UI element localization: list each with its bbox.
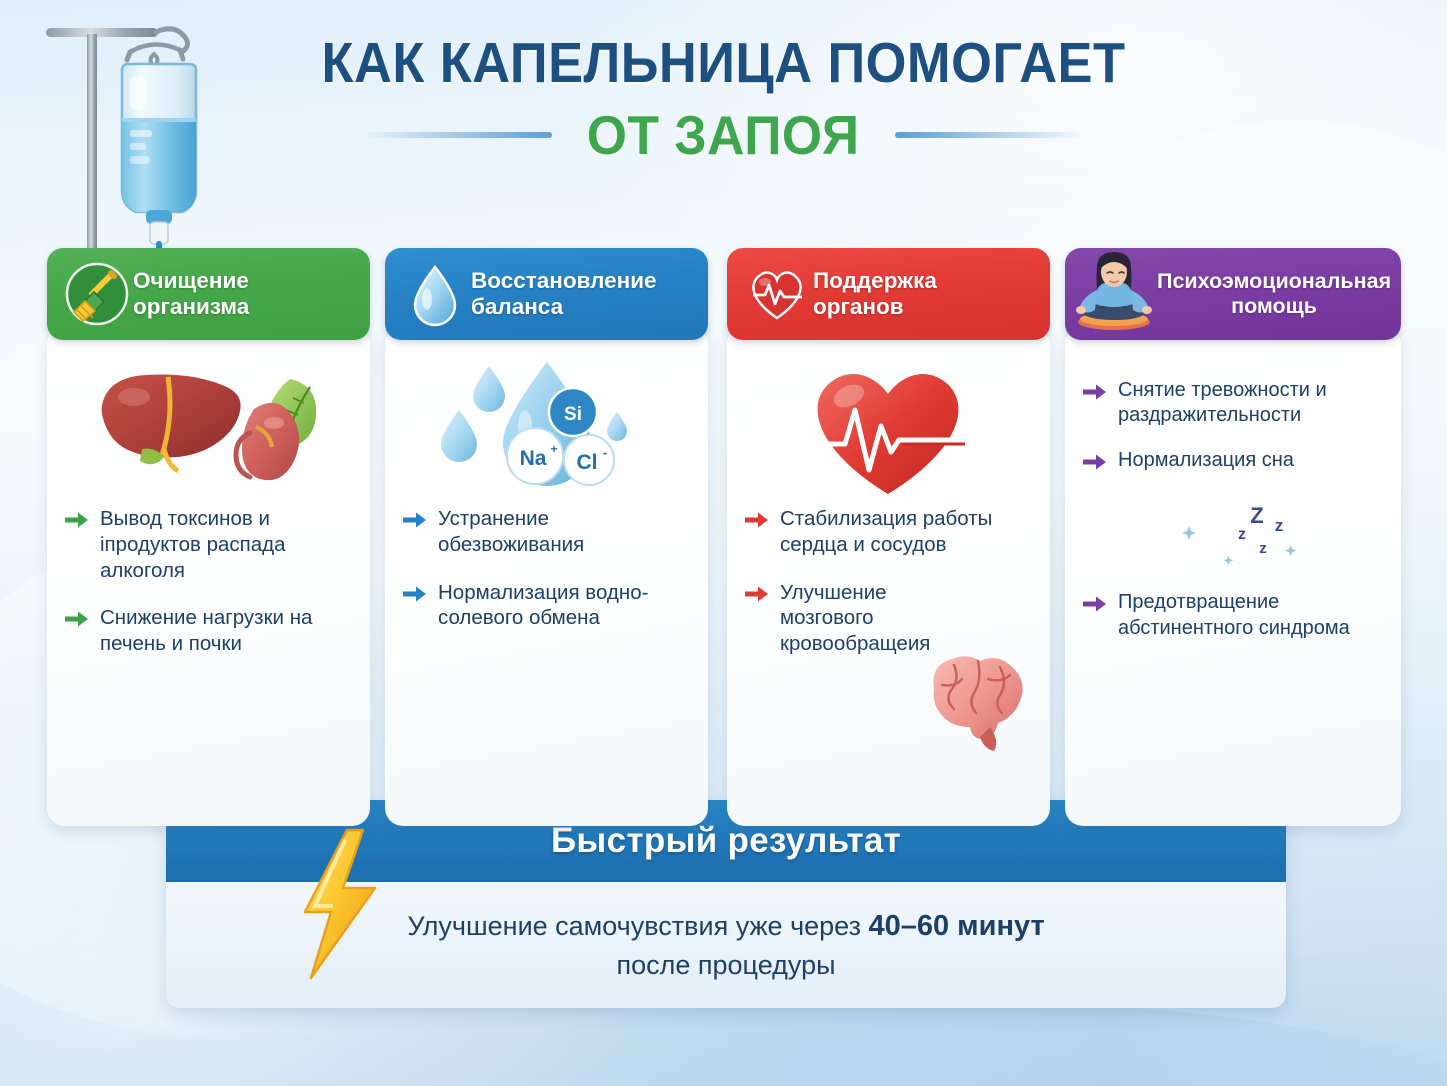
page-title: КАК КАПЕЛЬНИЦА ПОМОГАЕТ ОТ ЗАПОЯ	[0, 34, 1447, 167]
card-header-line2: помощь	[1231, 294, 1317, 318]
banner-duration-highlight: 40–60 минут	[868, 910, 1044, 942]
heart-pulse-icon	[741, 258, 813, 330]
arrow-right-icon	[1083, 595, 1107, 618]
bullet-item: Нормализация сна	[1083, 448, 1385, 476]
card-header-line1: Очищение	[133, 268, 249, 293]
bullet-text: Улучшение мозгового кровообращеия	[780, 580, 930, 657]
electrolyte-drops-illustration: Si Na + Cl -	[399, 352, 692, 502]
svg-text:Cl: Cl	[576, 451, 597, 474]
card-header-title: Психоэмоциональная помощь	[1157, 269, 1401, 319]
infographic-canvas: КАК КАПЕЛЬНИЦА ПОМОГАЕТ ОТ ЗАПОЯ	[0, 0, 1447, 1086]
svg-text:Si: Si	[564, 404, 582, 425]
title-sub-row: ОТ ЗАПОЯ	[0, 103, 1447, 167]
svg-text:z: z	[1259, 540, 1267, 557]
arrow-right-icon	[1083, 383, 1107, 406]
arrow-right-icon	[65, 610, 89, 633]
bullet-text: Нормализация водно-солевого обмена	[438, 580, 692, 632]
card-header-line2: баланса	[471, 294, 563, 319]
broom-icon	[61, 258, 133, 330]
bullet-item: Нормализация водно-солевого обмена	[403, 580, 692, 632]
arrow-right-icon	[403, 511, 427, 534]
brain-illustration	[912, 641, 1044, 758]
card-header-organs: Поддержка органов	[727, 248, 1050, 340]
arrow-right-icon	[1083, 453, 1107, 476]
card-header-title: Восстановление баланса	[471, 268, 694, 321]
card-psycho[interactable]: Психоэмоциональная помощь Снятие тревожн…	[1065, 248, 1401, 826]
card-header-line1: Психоэмоциональная	[1157, 269, 1391, 293]
bullet-list-cleansing: Вывод токсинов и іпродуктов распада алко…	[61, 506, 354, 657]
arrow-right-icon	[745, 585, 769, 608]
heart-ecg-illustration	[741, 352, 1034, 502]
card-body-balance: Si Na + Cl - Устр	[385, 326, 708, 826]
banner-header-text: Быстрый результат	[551, 821, 901, 861]
bullet-list-organs: Стабилизация работы сердца и сосудов Улу…	[741, 506, 1034, 657]
meditating-woman-icon	[1071, 248, 1157, 334]
card-header-cleansing: Очищение организма	[47, 248, 370, 340]
card-cleansing[interactable]: Очищение организма	[47, 248, 370, 826]
card-body-psycho: Снятие тревожности и раздражительности Н…	[1065, 326, 1401, 826]
card-header-line1: Поддержка	[813, 268, 937, 293]
bullet-text: Вывод токсинов и іпродуктов распада алко…	[100, 506, 354, 583]
bullet-list-balance: Устранение обезвоживания Нормализация во…	[399, 506, 692, 631]
card-body-cleansing: Вывод токсинов и іпродуктов распада алко…	[47, 326, 370, 826]
bullet-item: Снижение нагрузки на печень и почки	[65, 605, 354, 657]
banner-line-1: Улучшение самочувствия уже через 40–60 м…	[407, 910, 1044, 943]
arrow-right-icon	[65, 511, 89, 534]
card-header-line2: органов	[813, 294, 904, 319]
bullet-text: Устранение обезвоживания	[438, 506, 692, 558]
banner-line-2: после процедуры	[616, 950, 835, 981]
arrow-right-icon	[745, 511, 769, 534]
crescent-moon-zzz-illustration: Z z z z	[1083, 496, 1385, 570]
bullet-list-psycho: Снятие тревожности и раздражительности Н…	[1079, 378, 1385, 641]
bullet-text: Нормализация сна	[1118, 448, 1294, 473]
svg-text:z: z	[1275, 516, 1284, 535]
card-header-title: Поддержка органов	[813, 268, 1036, 321]
banner-line1-prefix: Улучшение самочувствия уже через	[407, 911, 868, 941]
bullet-item: Снятие тревожности и раздражительности	[1083, 378, 1385, 428]
bullet-text: Предотвращение абстинентного синдрома	[1118, 590, 1385, 640]
svg-text:-: -	[602, 445, 606, 460]
arrow-right-icon	[403, 585, 427, 608]
bullet-item: Устранение обезвоживания	[403, 506, 692, 558]
card-balance[interactable]: Восстановление баланса	[385, 248, 708, 826]
bullet-item: Стабилизация работы сердца и сосудов	[745, 506, 1034, 558]
card-header-psycho: Психоэмоциональная помощь	[1065, 248, 1401, 340]
title-rule-right	[895, 132, 1085, 138]
bullet-text: Снижение нагрузки на печень и почки	[100, 605, 354, 657]
bullet-text: Стабилизация работы сердца и сосудов	[780, 506, 1034, 558]
card-header-line1: Восстановление	[471, 268, 657, 293]
svg-text:Z: Z	[1250, 503, 1263, 528]
svg-text:+: +	[550, 442, 557, 456]
card-header-line2: организма	[133, 294, 249, 319]
svg-text:Na: Na	[519, 447, 546, 470]
water-drop-icon	[399, 258, 471, 330]
card-header-balance: Восстановление баланса	[385, 248, 708, 340]
title-line-sub: ОТ ЗАПОЯ	[587, 103, 860, 167]
lightning-bolt-icon	[291, 828, 387, 985]
liver-kidney-illustration	[61, 352, 354, 502]
title-rule-left	[362, 132, 552, 138]
card-body-organs: Стабилизация работы сердца и сосудов Улу…	[727, 326, 1050, 826]
card-header-title: Очищение организма	[133, 268, 356, 321]
bullet-text: Снятие тревожности и раздражительности	[1118, 378, 1385, 428]
card-organs[interactable]: Поддержка органов	[727, 248, 1050, 826]
bullet-item: Предотвращение абстинентного синдрома	[1083, 590, 1385, 640]
bullet-item: Вывод токсинов и іпродуктов распада алко…	[65, 506, 354, 583]
title-line-main: КАК КАПЕЛЬНИЦА ПОМОГАЕТ	[58, 34, 1389, 93]
fast-result-banner: Быстрый результат Улучшение самочувствия…	[166, 800, 1286, 1008]
svg-text:z: z	[1238, 526, 1246, 543]
